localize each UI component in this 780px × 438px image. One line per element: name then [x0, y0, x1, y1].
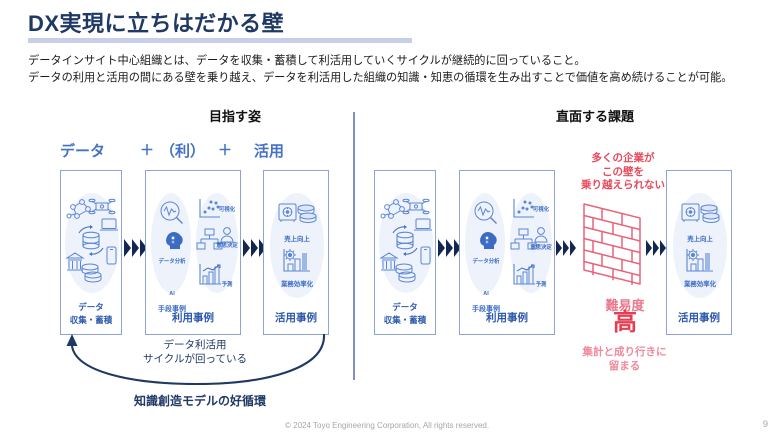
drone-icon	[89, 199, 115, 213]
forecast-bar-chart-icon	[200, 264, 221, 284]
section-divider	[353, 112, 355, 380]
left-card-application-examples: 売上向上 業務効率化 活用事例	[263, 170, 329, 335]
card-title-usage-examples: 利用事例	[460, 312, 554, 325]
title-block: DX実現に立ちはだかる壁	[0, 9, 780, 39]
drone-icon	[403, 199, 429, 213]
brick-wall-icon	[578, 196, 648, 292]
stall-caption-line-1: 集計と成り行きに	[552, 345, 697, 359]
card-title-line-1: データ	[61, 301, 121, 314]
page-title: DX実現に立ちはだかる壁	[0, 9, 780, 39]
card-title-line-2: 収集・蓄積	[61, 314, 121, 327]
arrow-right-3	[646, 240, 666, 256]
card-title-line-2: 収集・蓄積	[375, 314, 435, 327]
analysis-icons	[155, 198, 189, 258]
lead-line-1: データインサイト中心組織とは、データを収集・蓄積して利活用していくサイクルが継続…	[28, 53, 758, 70]
page-number: 9	[763, 419, 768, 430]
right-card-application-examples: 売上向上 業務効率化 活用事例	[666, 170, 732, 335]
coins-icon	[82, 264, 101, 282]
data-analysis-magnifier-icon	[161, 202, 183, 224]
formula-plus-2: ＋	[218, 140, 232, 160]
lead-paragraph: データインサイト中心組織とは、データを収集・蓄積して利活用していくサイクルが継続…	[28, 53, 758, 87]
stall-caption-line-2: 留まる	[552, 359, 697, 373]
label-operational-efficiency: 業務効率化	[281, 279, 313, 288]
left-card-usage-examples: データ分析 AI 手段事例	[145, 170, 241, 335]
ai-brain-icon	[166, 232, 183, 249]
label-data-analysis: データ分析	[473, 257, 500, 265]
arrow-right-2	[556, 240, 576, 256]
label-forecast: 予測	[536, 280, 547, 288]
label-decision-making-text: 意思決定	[216, 243, 238, 249]
coins-icon	[298, 205, 316, 223]
formula-plus-1: ＋	[140, 140, 154, 160]
revenue-icons	[278, 201, 318, 233]
database-cycle-icon	[393, 225, 417, 256]
label-ai: AI	[483, 291, 488, 297]
scatter-chart-icon	[514, 199, 534, 217]
left-section-heading: 目指す姿	[120, 106, 350, 125]
card-title-usage-examples: 利用事例	[146, 312, 240, 325]
stall-caption: 集計と成り行きに 留まる	[552, 345, 697, 373]
network-graph-icon	[381, 200, 404, 219]
person-decision-icon	[535, 228, 547, 242]
right-section-heading: 直面する課題	[480, 106, 710, 125]
cycle-caption-line-2: サイクルが回っている	[115, 352, 275, 366]
gear-icon	[687, 249, 699, 261]
label-revenue-growth: 売上向上	[284, 234, 310, 243]
cycle-caption-line-1: データ利活用	[115, 338, 275, 352]
bank-icon	[381, 253, 397, 270]
database-cycle-icon	[79, 225, 103, 256]
card-title-application-examples: 活用事例	[264, 312, 328, 325]
network-graph-icon	[67, 200, 90, 219]
laptop-icon	[100, 219, 118, 230]
forecast-bar-chart-icon	[514, 264, 535, 284]
bar-chart-icon	[284, 249, 310, 271]
label-revenue-growth: 売上向上	[687, 234, 713, 243]
data-analysis-magnifier-icon	[475, 202, 497, 224]
label-ai: AI	[169, 291, 174, 297]
cycle-caption: データ利活用 サイクルが回っている	[115, 338, 275, 366]
bank-icon	[67, 253, 83, 270]
lead-line-2: データの利用と活用の間にある壁を乗り越え、データを利活用した組織の知識・知恵の循…	[28, 70, 758, 87]
formula-term-ri: （利）	[160, 140, 205, 161]
safe-box-icon	[279, 204, 296, 222]
card-title-application-examples: 活用事例	[667, 312, 731, 325]
card-title-data-collection: データ 収集・蓄積	[375, 301, 435, 327]
card-title-line-1: データ	[375, 301, 435, 314]
data-source-icons	[377, 195, 435, 293]
efficiency-icons	[685, 247, 719, 277]
slide-root: DX実現に立ちはだかる壁 データインサイト中心組織とは、データを収集・蓄積して利…	[0, 0, 780, 438]
label-visualization: 可視化	[533, 205, 549, 213]
arrow-left-1	[124, 239, 147, 257]
data-source-icons	[63, 195, 121, 293]
scatter-chart-icon	[200, 199, 220, 217]
coins-icon	[701, 205, 719, 223]
efficiency-icons	[282, 247, 316, 277]
label-data-analysis: データ分析	[159, 257, 186, 265]
gear-icon	[284, 249, 296, 261]
coins-icon	[396, 264, 415, 282]
smartphone-icon	[421, 247, 430, 264]
ai-brain-icon	[480, 232, 497, 249]
right-card-data-collection: データ 収集・蓄積	[374, 170, 436, 335]
label-visualization: 可視化	[219, 205, 235, 213]
left-card-data-collection: データ 収集・蓄積	[60, 170, 122, 335]
label-decision-making: 意思決定	[530, 243, 552, 251]
card-title-data-collection: データ 収集・蓄積	[61, 301, 121, 327]
title-underline-rule	[28, 38, 412, 43]
laptop-icon	[414, 219, 432, 230]
revenue-icons	[681, 201, 721, 233]
label-forecast: 予測	[222, 280, 233, 288]
formula-row: データ ＋ （利） ＋ 活用	[46, 140, 346, 162]
formula-term-use: 活用	[254, 140, 284, 161]
arrow-right-1	[438, 239, 461, 257]
wall-callout-line-1: 多くの企業が	[548, 152, 698, 166]
bar-chart-icon	[687, 249, 713, 271]
smartphone-icon	[107, 247, 116, 264]
right-card-usage-examples: データ分析 AI 手段事例	[459, 170, 555, 335]
label-operational-efficiency: 業務効率化	[684, 279, 716, 288]
footer-copyright: © 2024 Toyo Engineering Corporation, All…	[285, 421, 489, 430]
good-cycle-caption: 知識創造モデルの好循環	[70, 392, 330, 409]
person-decision-icon	[221, 228, 233, 242]
formula-term-data: データ	[60, 140, 105, 161]
label-decision-making: 意思決定	[216, 243, 238, 249]
safe-box-icon	[682, 204, 699, 222]
analysis-icons	[469, 198, 503, 258]
